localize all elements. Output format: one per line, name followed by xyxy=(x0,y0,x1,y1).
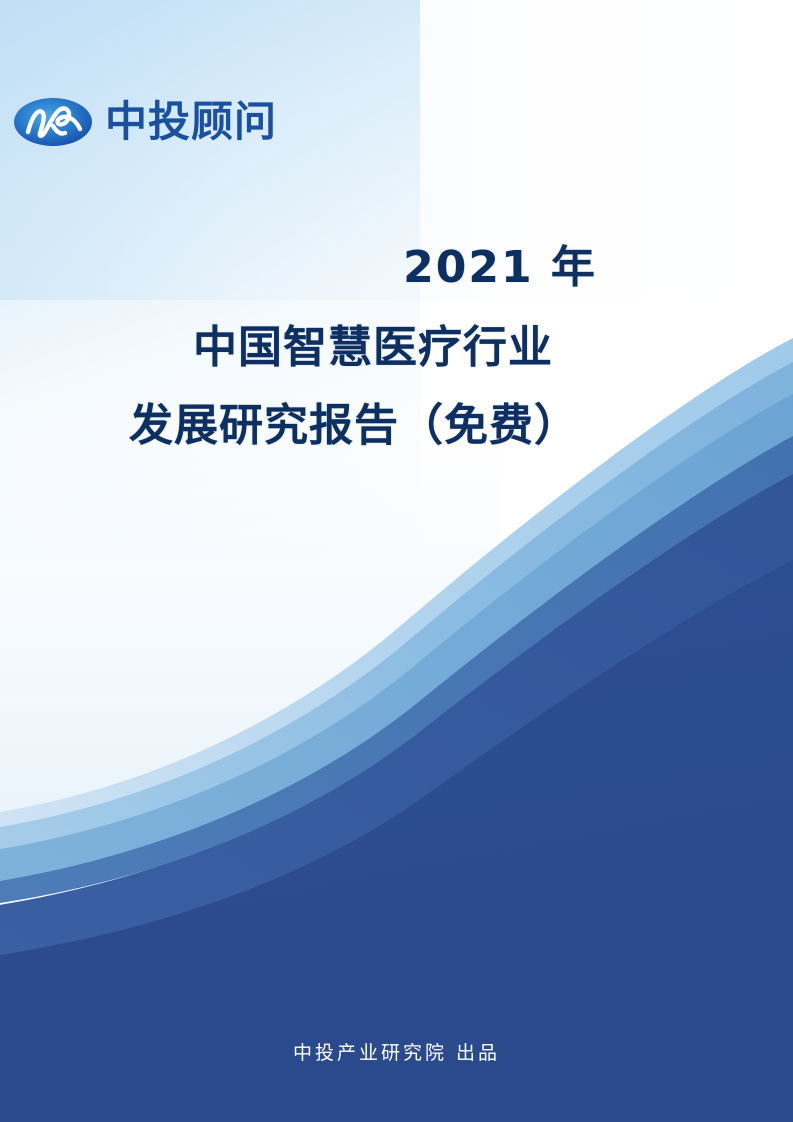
publisher-credit: 中投产业研究院 出品 xyxy=(0,1038,793,1065)
zhitou-ellipse-logo-icon xyxy=(13,96,93,148)
brand-wordmark: 中投顾问 xyxy=(105,101,277,143)
cover-title: 2021 年 中国智慧医疗行业 发展研究报告（免费） xyxy=(0,246,700,448)
title-line-subject: 发展研究报告（免费） xyxy=(0,404,700,448)
report-cover-page: 中投顾问 2021 年 中国智慧医疗行业 发展研究报告（免费） 中投产业研究院 … xyxy=(0,0,793,1122)
brand-logo: 中投顾问 xyxy=(13,96,277,148)
swoosh-wave-graphic xyxy=(0,0,793,1122)
title-line-industry: 中国智慧医疗行业 xyxy=(0,326,700,370)
title-line-year: 2021 年 xyxy=(0,246,700,290)
